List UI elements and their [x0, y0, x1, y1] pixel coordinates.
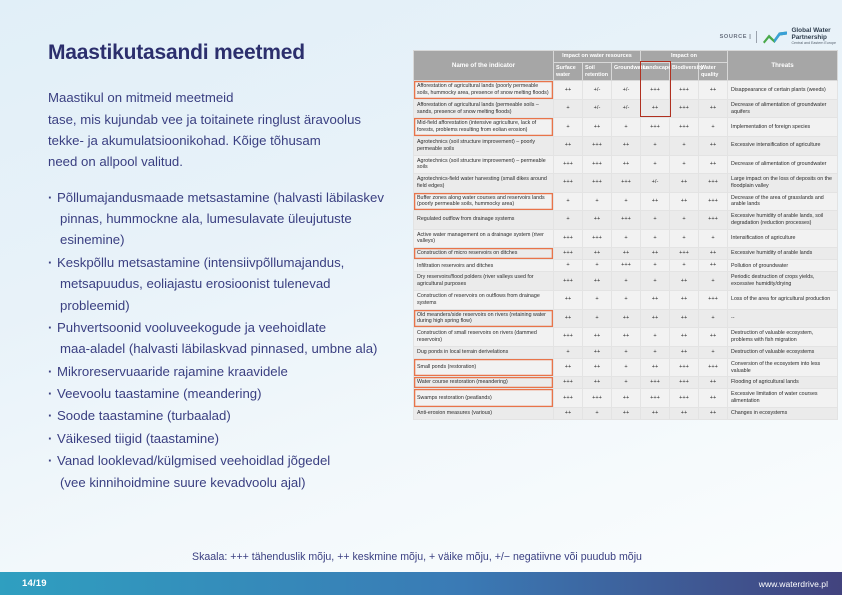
- table-row: Active water management on a drainage sy…: [414, 229, 838, 248]
- cell-indicator-name: Old meanders/side reservoirs on rivers (…: [414, 309, 554, 328]
- cell-score: +: [583, 309, 612, 328]
- cell-indicator-name: Buffer zones along water courses and res…: [414, 192, 554, 211]
- cell-score: +++: [583, 155, 612, 174]
- cell-score: ++: [641, 407, 670, 419]
- table-row: Agrotechnics (soil structure improvement…: [414, 155, 838, 174]
- cell-score: ++: [641, 248, 670, 260]
- th-threats: Threats: [728, 51, 838, 81]
- cell-score: ++: [670, 272, 699, 291]
- cell-score: +: [699, 346, 728, 358]
- cell-threat: Decrease of alimentation of groundwater: [728, 155, 838, 174]
- cell-score: +++: [699, 174, 728, 193]
- bullet-item: Keskpõllu metsastamine (intensiivpõlluma…: [48, 252, 408, 316]
- cell-score: +++: [641, 118, 670, 137]
- cell-score: ++: [699, 389, 728, 408]
- cell-indicator-name: Afforestation of agricultural lands (poo…: [414, 81, 554, 100]
- gwp-logo: Global Water Partnership Central and Eas…: [762, 28, 836, 46]
- cell-score: +: [583, 407, 612, 419]
- logo-line-2: Partnership: [791, 35, 836, 42]
- bullet-line: Veevoolu taastamine (meandering): [48, 383, 408, 404]
- cell-threat: Decrease of alimentation of groundwater …: [728, 99, 838, 118]
- cell-score: +: [612, 346, 641, 358]
- cell-score: +: [612, 118, 641, 137]
- impact-table: Name of the indicator Impact on water re…: [413, 50, 838, 420]
- cell-score: +: [699, 229, 728, 248]
- table-row: Buffer zones along water courses and res…: [414, 192, 838, 211]
- cell-score: ++: [670, 309, 699, 328]
- cell-score: ++: [612, 389, 641, 408]
- table-row: Swamps restoration (peatlands)++++++++++…: [414, 389, 838, 408]
- slide-canvas: SOURCE | Global Water Partnership Centra…: [0, 0, 842, 595]
- cell-threat: Implementation of foreign species: [728, 118, 838, 137]
- th-sub-surface-water: Surface water: [554, 62, 583, 81]
- th-indicator-name: Name of the indicator: [414, 51, 554, 81]
- th-group-water-resources: Impact on water resources: [554, 51, 641, 63]
- cell-score: +++: [583, 136, 612, 155]
- cell-score: +: [670, 260, 699, 272]
- cell-score: ++: [699, 81, 728, 100]
- cell-score: +: [612, 358, 641, 377]
- cell-score: ++: [699, 377, 728, 389]
- cell-score: ++: [641, 99, 670, 118]
- cell-score: ++: [583, 248, 612, 260]
- cell-score: +++: [641, 377, 670, 389]
- cell-score: +: [583, 291, 612, 310]
- cell-score: ++: [699, 260, 728, 272]
- th-sub-landscape: Landscape: [641, 62, 670, 81]
- th-sub-biodiversity: Biodiversity: [670, 62, 699, 81]
- cell-score: ++: [583, 377, 612, 389]
- cell-score: +++: [583, 229, 612, 248]
- table-row: Dug ponds in local terrain derivelations…: [414, 346, 838, 358]
- bullet-line: probleemid): [48, 295, 408, 316]
- bullet-line: Keskpõllu metsastamine (intensiivpõlluma…: [48, 252, 408, 273]
- table-header-row-groups: Name of the indicator Impact on water re…: [414, 51, 838, 63]
- cell-score: +++: [670, 81, 699, 100]
- cell-score: +++: [554, 248, 583, 260]
- cell-indicator-name: Small ponds (restoration): [414, 358, 554, 377]
- cell-score: +: [641, 136, 670, 155]
- cell-score: ++: [612, 155, 641, 174]
- table-row: Afforestation of agricultural lands (per…: [414, 99, 838, 118]
- cell-threat: Excessive humidity of arable lands: [728, 248, 838, 260]
- cell-score: +: [670, 155, 699, 174]
- bullet-item: Põllumajandusmaade metsastamine (halvast…: [48, 187, 408, 251]
- cell-score: ++: [699, 136, 728, 155]
- source-row: SOURCE | Global Water Partnership Centra…: [720, 28, 836, 46]
- cell-threat: Pollution of groundwater: [728, 260, 838, 272]
- cell-score: ++: [699, 407, 728, 419]
- impact-table-head: Name of the indicator Impact on water re…: [414, 51, 838, 81]
- cell-threat: Destruction of valuable ecosystem, probl…: [728, 328, 838, 347]
- left-content-panel: Maastikutasandi meetmed Maastikul on mit…: [48, 40, 408, 494]
- cell-score: ++: [612, 328, 641, 347]
- cell-score: +++: [554, 389, 583, 408]
- bullet-line: Väikesed tiigid (taastamine): [48, 428, 408, 449]
- cell-score: +: [641, 346, 670, 358]
- cell-score: ++: [583, 328, 612, 347]
- cell-score: ++: [554, 136, 583, 155]
- cell-score: +++: [583, 389, 612, 408]
- cell-score: +: [612, 229, 641, 248]
- intro-line: Maastikul on mitmeid meetmeid: [48, 87, 408, 108]
- cell-score: +/-: [612, 81, 641, 100]
- cell-score: +: [612, 272, 641, 291]
- cell-score: +++: [554, 328, 583, 347]
- bullet-item: Väikesed tiigid (taastamine): [48, 428, 408, 449]
- bullet-line: pinnas, hummockne ala, lumesulavate üleu…: [48, 208, 408, 229]
- cell-threat: Flooding of agricultural lands: [728, 377, 838, 389]
- cell-score: +: [554, 118, 583, 137]
- cell-score: ++: [699, 99, 728, 118]
- cell-indicator-name: Agrotechnics (soil structure improvement…: [414, 155, 554, 174]
- cell-score: ++: [612, 407, 641, 419]
- cell-score: +++: [554, 229, 583, 248]
- cell-indicator-name: Active water management on a drainage sy…: [414, 229, 554, 248]
- table-row: Agrotechnics-field water harvesting (sma…: [414, 174, 838, 193]
- table-row: Old meanders/side reservoirs on rivers (…: [414, 309, 838, 328]
- bullet-list: Põllumajandusmaade metsastamine (halvast…: [48, 187, 408, 493]
- cell-threat: Destruction of valuable ecosystems: [728, 346, 838, 358]
- cell-score: +++: [612, 260, 641, 272]
- cell-threat: Loss of the area for agricultural produc…: [728, 291, 838, 310]
- scale-legend: Skaala: +++ tähenduslik mõju, ++ keskmin…: [0, 551, 842, 563]
- cell-score: +++: [554, 174, 583, 193]
- cell-score: ++: [670, 192, 699, 211]
- cell-score: +++: [612, 174, 641, 193]
- cell-score: ++: [670, 174, 699, 193]
- cell-score: +++: [554, 272, 583, 291]
- intro-line: tase, mis kujundab vee ja toitainete rin…: [48, 109, 408, 130]
- cell-score: +: [641, 229, 670, 248]
- cell-score: +: [554, 346, 583, 358]
- table-row: Construction of small reservoirs on rive…: [414, 328, 838, 347]
- cell-score: +++: [641, 81, 670, 100]
- cell-score: ++: [699, 248, 728, 260]
- cell-indicator-name: Construction of micro reservoirs on ditc…: [414, 248, 554, 260]
- cell-score: ++: [641, 291, 670, 310]
- cell-score: +/-: [583, 99, 612, 118]
- cell-score: +: [641, 328, 670, 347]
- cell-score: ++: [583, 272, 612, 291]
- table-row: Anti-erosion measures (various)+++++++++…: [414, 407, 838, 419]
- cell-score: +: [583, 192, 612, 211]
- cell-threat: Changes in ecosystems: [728, 407, 838, 419]
- cell-score: +: [641, 272, 670, 291]
- cell-score: ++: [699, 155, 728, 174]
- cell-indicator-name: Construction of reservoirs on outflows f…: [414, 291, 554, 310]
- table-row: Afforestation of agricultural lands (poo…: [414, 81, 838, 100]
- cell-score: +++: [699, 291, 728, 310]
- bullet-item: Soode taastamine (turbaalad): [48, 405, 408, 426]
- cell-score: +: [699, 118, 728, 137]
- th-group-impact-on: Impact on: [641, 51, 728, 63]
- table-row: Dry reservoirs/flood polders (river vall…: [414, 272, 838, 291]
- th-sub-soil-retention: Soil retention: [583, 62, 612, 81]
- cell-score: +/-: [583, 81, 612, 100]
- cell-score: ++: [699, 328, 728, 347]
- bullet-item: Vanad looklevad/külgmised veehoidlad jõg…: [48, 450, 408, 493]
- table-row: Agrotechnics (soil structure improvement…: [414, 136, 838, 155]
- cell-score: +: [554, 99, 583, 118]
- bullet-line: Põllumajandusmaade metsastamine (halvast…: [48, 187, 408, 208]
- cell-score: +++: [699, 211, 728, 230]
- cell-score: +: [699, 272, 728, 291]
- cell-score: +++: [699, 358, 728, 377]
- cell-threat: Periodic destruction of crops yields, ex…: [728, 272, 838, 291]
- cell-score: +++: [670, 99, 699, 118]
- cell-score: +/-: [612, 99, 641, 118]
- cell-score: +++: [583, 174, 612, 193]
- cell-score: ++: [554, 407, 583, 419]
- cell-score: +++: [670, 377, 699, 389]
- intro-paragraph: Maastikul on mitmeid meetmeidtase, mis k…: [48, 87, 408, 173]
- bullet-item: Veevoolu taastamine (meandering): [48, 383, 408, 404]
- cell-score: ++: [670, 346, 699, 358]
- footer-url: www.waterdrive.pl: [759, 579, 828, 589]
- cell-score: +: [583, 260, 612, 272]
- cell-threat: Excessive intensification of agriculture: [728, 136, 838, 155]
- cell-score: +: [612, 192, 641, 211]
- cell-score: +++: [554, 377, 583, 389]
- cell-threat: Decrease of the area of grasslands and a…: [728, 192, 838, 211]
- table-row: Infiltration reservoirs and ditches+++++…: [414, 260, 838, 272]
- bullet-line: maa-aladel (halvasti läbilaskvad pinnase…: [48, 338, 408, 359]
- bullet-line: Soode taastamine (turbaalad): [48, 405, 408, 426]
- cell-score: ++: [554, 291, 583, 310]
- cell-threat: Intensification of agriculture: [728, 229, 838, 248]
- intro-line: need on allpool valitud.: [48, 151, 408, 172]
- page-title: Maastikutasandi meetmed: [48, 40, 408, 65]
- cell-score: ++: [670, 291, 699, 310]
- cell-score: +: [670, 136, 699, 155]
- bullet-line: Mikroreservuaaride rajamine kraavidele: [48, 361, 408, 382]
- cell-score: ++: [670, 407, 699, 419]
- cell-score: +++: [554, 155, 583, 174]
- bullet-item: Puhvertsoonid vooluveekogude ja veehoidl…: [48, 317, 408, 360]
- gwp-logo-mark: [762, 30, 788, 45]
- cell-indicator-name: Agrotechnics-field water harvesting (sma…: [414, 174, 554, 193]
- bullet-line: Vanad looklevad/külgmised veehoidlad jõg…: [48, 450, 408, 471]
- cell-score: +++: [670, 248, 699, 260]
- cell-score: ++: [670, 328, 699, 347]
- cell-indicator-name: Swamps restoration (peatlands): [414, 389, 554, 408]
- logo-line-3: Central and Eastern Europe: [791, 42, 836, 46]
- cell-score: +: [554, 192, 583, 211]
- cell-indicator-name: Agrotechnics (soil structure improvement…: [414, 136, 554, 155]
- cell-indicator-name: Water course restoration (meandering): [414, 377, 554, 389]
- cell-score: +: [699, 309, 728, 328]
- th-sub-groundwater: Groundwater: [612, 62, 641, 81]
- cell-indicator-name: Dry reservoirs/flood polders (river vall…: [414, 272, 554, 291]
- intro-line: tekke- ja akumulatsioonikohad. Kõige tõh…: [48, 130, 408, 151]
- cell-threat: Excessive limitation of water courses al…: [728, 389, 838, 408]
- cell-score: ++: [583, 346, 612, 358]
- cell-score: +: [670, 229, 699, 248]
- th-sub-water-quality: Water quality: [699, 62, 728, 81]
- cell-score: ++: [554, 358, 583, 377]
- cell-score: ++: [641, 358, 670, 377]
- bullet-line: esinemine): [48, 229, 408, 250]
- cell-threat: Large impact on the loss of deposits on …: [728, 174, 838, 193]
- cell-score: ++: [612, 248, 641, 260]
- cell-score: +: [612, 377, 641, 389]
- table-row: Construction of micro reservoirs on ditc…: [414, 248, 838, 260]
- cell-indicator-name: Mid-field afforestation (intensive agric…: [414, 118, 554, 137]
- page-number: 14/19: [22, 578, 47, 589]
- cell-score: ++: [641, 309, 670, 328]
- cell-indicator-name: Construction of small reservoirs on rive…: [414, 328, 554, 347]
- cell-score: +: [641, 260, 670, 272]
- cell-score: +: [554, 260, 583, 272]
- cell-score: ++: [554, 309, 583, 328]
- cell-threat: Conversion of the ecosystem into less va…: [728, 358, 838, 377]
- impact-table-body: Afforestation of agricultural lands (poo…: [414, 81, 838, 420]
- cell-threat: --: [728, 309, 838, 328]
- source-divider: [756, 31, 757, 43]
- cell-score: +: [670, 211, 699, 230]
- table-row: Regulated outflow from drainage systems+…: [414, 211, 838, 230]
- bullet-line: (vee kinnihoidmine suure kevadvoolu ajal…: [48, 472, 408, 493]
- cell-score: ++: [612, 136, 641, 155]
- cell-indicator-name: Regulated outflow from drainage systems: [414, 211, 554, 230]
- cell-score: +/-: [641, 174, 670, 193]
- table-row: Construction of reservoirs on outflows f…: [414, 291, 838, 310]
- bullet-item: Mikroreservuaaride rajamine kraavidele: [48, 361, 408, 382]
- cell-indicator-name: Anti-erosion measures (various): [414, 407, 554, 419]
- gwp-logo-text: Global Water Partnership Central and Eas…: [791, 28, 836, 46]
- bullet-line: Puhvertsoonid vooluveekogude ja veehoidl…: [48, 317, 408, 338]
- cell-score: ++: [612, 309, 641, 328]
- cell-score: ++: [641, 192, 670, 211]
- cell-score: ++: [583, 118, 612, 137]
- impact-table-container: Name of the indicator Impact on water re…: [413, 50, 837, 420]
- cell-score: +: [641, 155, 670, 174]
- cell-score: +++: [612, 211, 641, 230]
- cell-score: +++: [670, 358, 699, 377]
- cell-threat: Excessive humidity of arable lands, soil…: [728, 211, 838, 230]
- cell-score: +: [641, 211, 670, 230]
- cell-score: +: [554, 211, 583, 230]
- bullet-line: metsapuudus, eoliajastu erosioonist tule…: [48, 273, 408, 294]
- cell-indicator-name: Afforestation of agricultural lands (per…: [414, 99, 554, 118]
- cell-threat: Disappearance of certain plants (weeds): [728, 81, 838, 100]
- table-row: Water course restoration (meandering)+++…: [414, 377, 838, 389]
- cell-score: ++: [583, 358, 612, 377]
- cell-score: ++: [554, 81, 583, 100]
- cell-score: +: [612, 291, 641, 310]
- cell-indicator-name: Infiltration reservoirs and ditches: [414, 260, 554, 272]
- table-row: Mid-field afforestation (intensive agric…: [414, 118, 838, 137]
- cell-score: ++: [583, 211, 612, 230]
- slide-footer: 14/19 www.waterdrive.pl: [0, 572, 842, 595]
- cell-score: +++: [670, 118, 699, 137]
- cell-score: +++: [641, 389, 670, 408]
- source-label: SOURCE |: [720, 34, 752, 40]
- table-row: Small ponds (restoration)+++++++++++++Co…: [414, 358, 838, 377]
- cell-score: +++: [699, 192, 728, 211]
- cell-score: +++: [670, 389, 699, 408]
- cell-indicator-name: Dug ponds in local terrain derivelations: [414, 346, 554, 358]
